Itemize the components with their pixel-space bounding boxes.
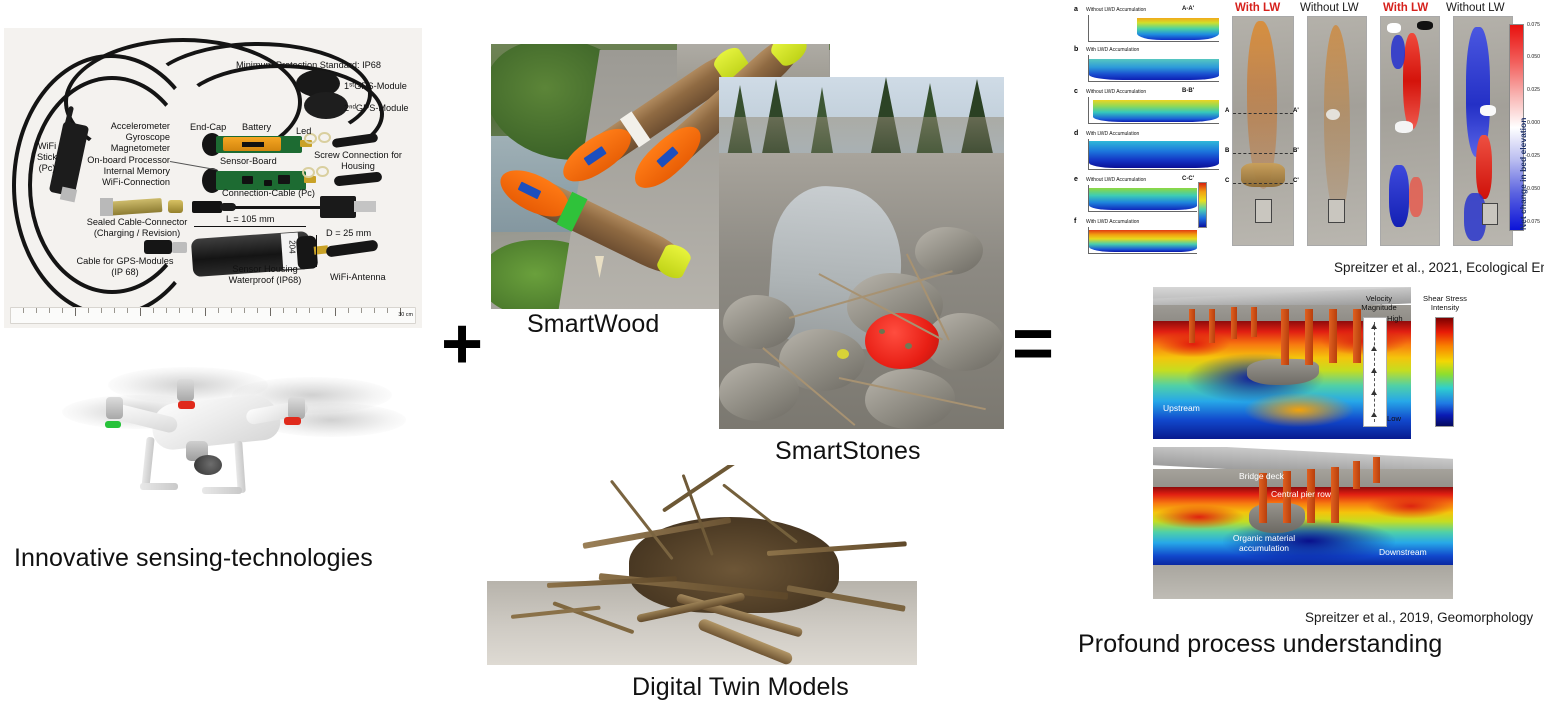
cbar-tick-1: 0.050 — [1527, 54, 1540, 60]
header-with-lw-2: With LW — [1383, 2, 1428, 14]
chip-3 — [278, 175, 290, 184]
operator-plus: + — [441, 308, 483, 380]
boulder-marker — [1326, 109, 1340, 120]
operator-equals: = — [1012, 308, 1054, 380]
aerial-with-lw — [1232, 16, 1294, 246]
citation-2021: Spreitzer et al., 2021, Ecological Engin… — [1334, 260, 1544, 275]
label-min-protection: Minimum Protection Standard: IP68 — [236, 60, 381, 71]
label-organic-accumulation: Organic material accumulation — [1231, 533, 1297, 553]
usb-tip — [354, 201, 376, 212]
label-length: L = 105 mm — [226, 214, 274, 225]
label-sensor-features: Accelerometer Gyroscope Magnetometer On-… — [86, 121, 170, 188]
label-gps-cable: Cable for GPS-Modules (IP 68) — [70, 256, 180, 278]
antenna-bottom — [334, 172, 383, 187]
citation-2019: Spreitzer et al., 2019, Geomorphology — [1305, 610, 1533, 625]
xs-plot-e — [1088, 185, 1197, 212]
dod-white-patch-2 — [1417, 21, 1433, 30]
xs-plot-b — [1088, 55, 1219, 82]
cbar-tick-5: -0.050 — [1525, 186, 1540, 192]
dod-white-patch-3 — [1395, 121, 1413, 133]
length-dimension-line — [194, 226, 306, 227]
dod-without-lw — [1453, 16, 1513, 246]
cbar-tick-3: 0.000 — [1527, 120, 1540, 126]
sensor-exploded-photo: 30 cm Minimum Protection Standard: IP68 … — [4, 28, 422, 328]
smartstones-photo — [719, 77, 1004, 429]
ruler-end-label: 30 cm — [398, 312, 413, 319]
marker-C2: C' — [1293, 178, 1299, 184]
marker-A2: A' — [1293, 108, 1299, 114]
xs-title-e: Without LWD Accumulation — [1086, 177, 1146, 183]
drone-photo — [60, 355, 410, 540]
cfd-lower-hot-right — [1367, 493, 1453, 519]
legend-velocity-low: Low — [1387, 415, 1413, 424]
caption-smartwood: SmartWood — [527, 310, 659, 339]
label-connection-cable: Connection-Cable (Pc) — [222, 188, 315, 199]
rock-1 — [723, 295, 795, 349]
label-diameter: D = 25 mm — [326, 228, 371, 239]
xs-letter-c: c — [1074, 88, 1078, 95]
led-red-rear — [284, 417, 301, 425]
landing-leg-right-foot — [202, 487, 242, 494]
pier-upper-4 — [1251, 307, 1257, 337]
header-without-lw-2: Without LW — [1446, 2, 1505, 14]
caption-digital-twin: Digital Twin Models — [632, 673, 849, 702]
pier-upper-8 — [1353, 309, 1361, 363]
dod-with-lw-deposition-lower — [1409, 177, 1423, 217]
xs-letter-f: f — [1074, 218, 1076, 225]
motor-front-right — [177, 379, 194, 401]
xs-inset-colorbar — [1198, 182, 1207, 228]
caption-process-understanding: Profound process understanding — [1078, 630, 1442, 659]
xs-title-a: Without LWD Accumulation — [1086, 7, 1146, 13]
cfd-downstream-view: Bridge deck Central pier row Organic mat… — [1153, 447, 1453, 599]
label-screw-connection: Screw Connection for Housing — [304, 150, 412, 172]
chip-2 — [264, 180, 272, 186]
xs-plot-f — [1088, 227, 1197, 254]
landing-leg-right — [234, 441, 246, 493]
pier-upper-7 — [1329, 309, 1337, 363]
label-battery: Battery — [242, 122, 271, 133]
xs-plot-a — [1088, 15, 1219, 42]
label-central-pier-row: Central pier row — [1271, 489, 1331, 499]
camera-lens — [194, 455, 222, 475]
barrel-plug — [192, 201, 222, 213]
xs-letter-a: a — [1074, 6, 1078, 13]
usb-cable-run — [235, 206, 323, 209]
xs-title-d: With LWD Accumulation — [1086, 131, 1139, 137]
label-gps-module-2: 2ⁿᵈGPS-Module — [344, 103, 409, 114]
label-wifi-stick: WiFi Stick (Pc) — [26, 141, 68, 175]
legend-shear-title: Shear Stress Intensity — [1409, 295, 1481, 312]
pier-upper-6 — [1305, 309, 1313, 365]
dod-with-lw-deposition — [1403, 33, 1421, 129]
gps-module-2 — [304, 92, 348, 119]
label-sensor-board: Sensor-Board — [220, 156, 277, 167]
landing-leg-left — [141, 437, 154, 490]
velocity-legend-box — [1363, 317, 1387, 427]
smartstone-lichen-speckle — [879, 329, 885, 334]
motor-rear-right — [288, 397, 305, 419]
cbar-tick-6: -0.075 — [1525, 219, 1540, 225]
cfd-lower-bed — [1153, 565, 1453, 599]
xs-letter-e: e — [1074, 176, 1078, 183]
xs-letter-d: d — [1074, 130, 1078, 137]
caption-sensing-technologies: Innovative sensing-technologies — [14, 544, 373, 573]
wifi-stick-usb — [60, 187, 77, 203]
label-sealed-connector: Sealed Cable-Connector (Charging / Revis… — [76, 217, 198, 239]
usb-plug — [320, 196, 356, 218]
section-line-c — [1233, 183, 1293, 184]
digitaltwin-photo — [487, 465, 917, 665]
cfd-upper-warm-bar — [1245, 393, 1353, 427]
section-line-a — [1233, 113, 1293, 114]
caption-smartstones: SmartStones — [775, 437, 921, 466]
marker-B2: B' — [1293, 148, 1299, 154]
led-green — [105, 421, 121, 428]
pier-lower-4 — [1331, 467, 1339, 523]
rock-4 — [915, 227, 983, 275]
figure-spreitzer-2019: Upstream Velocity Magnitude High Low She… — [1153, 287, 1543, 609]
xs-plot-c — [1088, 97, 1219, 124]
xs-plot-d — [1088, 139, 1219, 170]
yellow-flowers — [837, 349, 849, 359]
dod-without-lw-plate — [1482, 203, 1498, 225]
pier-upper-5 — [1281, 309, 1289, 365]
cable-strain-relief — [220, 203, 236, 211]
xs-title-f: With LWD Accumulation — [1086, 219, 1139, 225]
housing-cable-plug — [144, 240, 172, 254]
marker-C: C — [1225, 178, 1229, 184]
housing-cable-nut — [172, 242, 187, 253]
label-upstream: Upstream — [1163, 403, 1200, 413]
connector-ferrule — [100, 198, 113, 216]
landing-leg-left-foot — [140, 483, 178, 490]
battery-contact — [242, 142, 264, 147]
pier-upper-1 — [1189, 309, 1195, 343]
xs-section-c: C-C' — [1182, 176, 1194, 182]
brass-nut — [168, 200, 183, 213]
organic-accumulation-lower — [1249, 503, 1305, 533]
pier-upper-2 — [1209, 309, 1215, 343]
led-red-front — [178, 401, 195, 409]
washer-2 — [318, 132, 331, 143]
label-downstream: Downstream — [1379, 547, 1427, 557]
label-gps-module-1: 1ˢᵗGPS-Module — [344, 81, 407, 92]
cbar-tick-2: 0.025 — [1527, 87, 1540, 93]
label-wifi-antenna: WiFi-Antenna — [330, 272, 386, 283]
pier-lower-6 — [1373, 457, 1380, 483]
header-without-lw-1: Without LW — [1300, 2, 1359, 14]
shear-stress-colorbar — [1435, 317, 1454, 427]
scour-marker-plate-2 — [1328, 199, 1345, 223]
pier-upper-3 — [1231, 307, 1237, 339]
smartstone-lichen-speckle-2 — [905, 343, 912, 349]
xs-title-b: With LWD Accumulation — [1086, 47, 1139, 53]
ruler: 30 cm — [10, 307, 416, 324]
label-led: Led — [296, 126, 311, 137]
legend-velocity-high: High — [1387, 315, 1413, 324]
housing-antenna — [325, 239, 378, 257]
marker-B: B — [1225, 148, 1229, 154]
rock-5 — [719, 363, 799, 421]
label-end-cap: End-Cap — [190, 122, 226, 133]
dod-without-lw-white-patch — [1480, 105, 1496, 116]
legend-velocity-title: Velocity Magnitude — [1349, 295, 1409, 312]
label-sensor-housing: Sensor Housing Waterproof (IP68) — [210, 264, 320, 286]
dod-without-lw-deposition — [1476, 135, 1492, 199]
aerial-without-lw — [1307, 16, 1367, 246]
label-bridge-deck: Bridge deck — [1239, 471, 1284, 481]
cross-section-column: a Without LWD Accumulation A-A' b With L… — [1072, 6, 1224, 256]
figure-spreitzer-2021: a Without LWD Accumulation A-A' b With L… — [1072, 2, 1542, 258]
dod-with-lw-scour-lower — [1389, 165, 1409, 227]
chip-1 — [242, 176, 253, 184]
dod-white-patch-1 — [1387, 23, 1401, 33]
cbar-tick-4: -0.025 — [1525, 153, 1540, 159]
scour-marker-plate — [1255, 199, 1272, 223]
colorbar-title: Net change in bed elevation — [1518, 118, 1528, 230]
header-with-lw-1: With LW — [1235, 2, 1280, 14]
pier-lower-5 — [1353, 461, 1360, 489]
diameter-dimension-line — [316, 235, 317, 267]
dod-with-lw-scour-upper — [1391, 35, 1405, 69]
xs-section-b: B-B' — [1182, 88, 1194, 94]
cbar-tick-0: 0.075 — [1527, 22, 1540, 28]
marker-A: A — [1225, 108, 1229, 114]
motor-front-left — [106, 397, 123, 419]
xs-letter-b: b — [1074, 46, 1078, 53]
dod-with-lw — [1380, 16, 1440, 246]
xs-section-a: A-A' — [1182, 6, 1194, 12]
section-line-b — [1233, 153, 1293, 154]
label-housing-code: 204 — [287, 240, 297, 253]
xs-title-c: Without LWD Accumulation — [1086, 89, 1146, 95]
